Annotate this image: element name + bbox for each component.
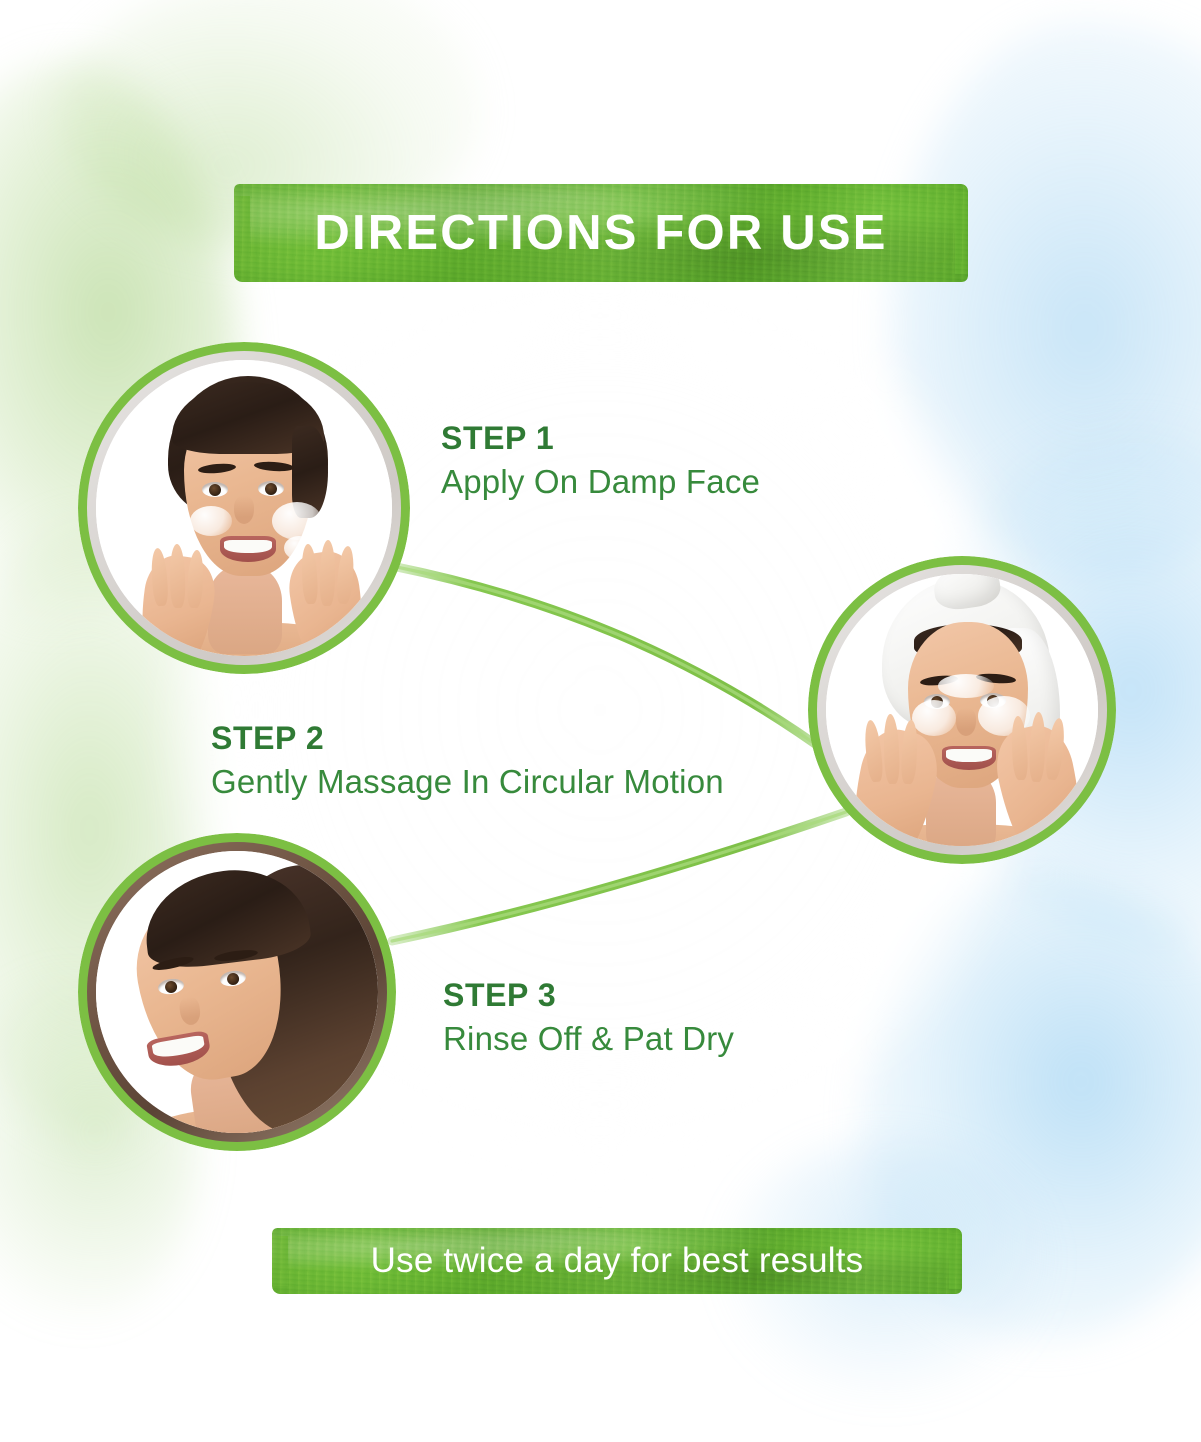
teeth	[151, 1035, 205, 1059]
mouth	[220, 536, 276, 562]
footer-note: Use twice a day for best results	[371, 1241, 864, 1281]
connector-step2-to-step3-highlight	[392, 812, 846, 941]
step-1-photo-circle	[78, 342, 410, 674]
step-2-description: Gently Massage In Circular Motion	[211, 761, 724, 802]
teeth	[224, 540, 271, 554]
watercolor-wash-blue-right-top	[891, 20, 1201, 580]
foam-right-cheek	[272, 502, 322, 540]
step-1-illustration	[96, 360, 392, 656]
step-2-text-block: STEP 2 Gently Massage In Circular Motion	[211, 720, 724, 802]
nose	[956, 708, 976, 736]
step-1-description: Apply On Damp Face	[441, 461, 760, 502]
connector-step2-to-step3	[392, 812, 846, 941]
step-1-title: STEP 1	[441, 420, 760, 457]
step-3-illustration	[96, 851, 378, 1133]
foam-left-cheek	[912, 700, 956, 736]
title-banner: DIRECTIONS FOR USE	[234, 184, 968, 282]
step-1-photo	[96, 360, 392, 656]
finger-left-2	[883, 714, 900, 784]
step-3-photo-circle	[78, 833, 396, 1151]
step-2-photo-circle	[808, 556, 1116, 864]
eye-left	[202, 482, 228, 497]
step-1-text-block: STEP 1 Apply On Damp Face	[441, 420, 760, 502]
step-2-title: STEP 2	[211, 720, 724, 757]
nose	[234, 496, 254, 524]
step-3-title: STEP 3	[443, 977, 734, 1014]
foam-left-cheek	[190, 506, 232, 536]
teeth	[946, 749, 991, 761]
step-3-photo	[96, 851, 378, 1133]
finger-right-2	[319, 540, 335, 606]
page-title: DIRECTIONS FOR USE	[314, 205, 887, 261]
foam-forehead	[938, 674, 994, 698]
neck	[208, 566, 282, 654]
step-3-text-block: STEP 3 Rinse Off & Pat Dry	[443, 977, 734, 1059]
step-2-photo	[826, 574, 1098, 846]
footer-banner: Use twice a day for best results	[272, 1228, 962, 1294]
finger-left-2	[169, 544, 185, 608]
step-3-description: Rinse Off & Pat Dry	[443, 1018, 734, 1059]
step-2-illustration	[826, 574, 1098, 846]
mouth	[942, 746, 996, 770]
eye-right	[258, 481, 284, 496]
directions-for-use-infographic: DIRECTIONS FOR USE	[0, 0, 1201, 1442]
